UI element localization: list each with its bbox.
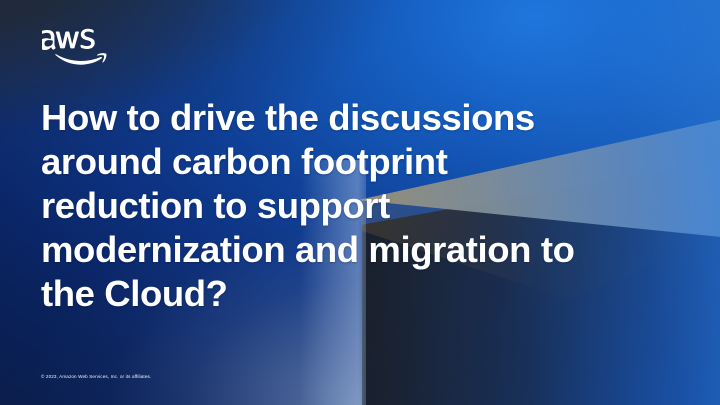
presentation-slide: How to drive the discussions around carb… <box>0 0 720 405</box>
slide-content: How to drive the discussions around carb… <box>0 0 720 405</box>
page-title: How to drive the discussions around carb… <box>41 96 661 316</box>
aws-logo-icon <box>42 26 108 70</box>
copyright-notice: © 2023, Amazon Web Services, Inc. or its… <box>41 374 151 379</box>
